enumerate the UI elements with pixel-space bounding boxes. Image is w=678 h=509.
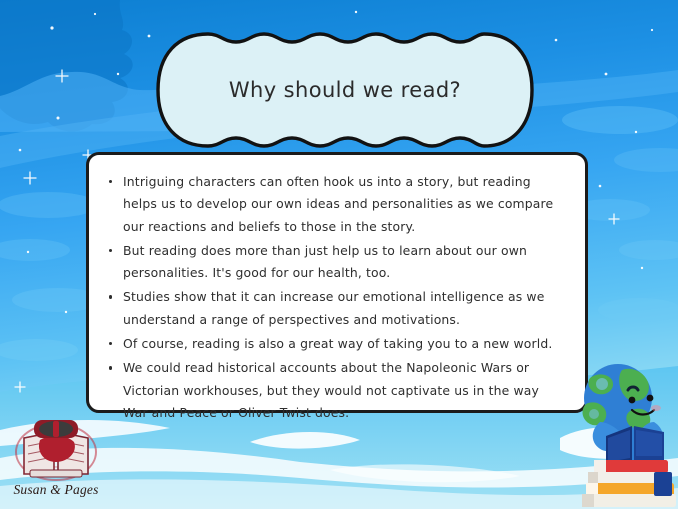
cloud-right-1 [562, 106, 678, 134]
list-item: Of course, reading is also a great way o… [103, 333, 567, 355]
list-item: We could read historical accounts about … [103, 357, 567, 424]
brand-name: Susan & Pages [4, 482, 108, 498]
bullet-list: Intriguing characters can often hook us … [103, 171, 567, 424]
slide-title: Why should we read? [150, 26, 540, 154]
list-item: Studies show that it can increase our em… [103, 286, 567, 331]
slide-canvas: Why should we read? Intriguing character… [0, 0, 678, 509]
content-card: Intriguing characters can often hook us … [86, 152, 588, 413]
brand-logo: Susan & Pages [4, 412, 108, 504]
list-item: But reading does more than just help us … [103, 240, 567, 285]
title-cloud: Why should we read? [150, 26, 540, 154]
globe-reading-book-icon [566, 352, 678, 509]
cloud-left-1 [0, 192, 98, 218]
list-item: Intriguing characters can often hook us … [103, 171, 567, 238]
